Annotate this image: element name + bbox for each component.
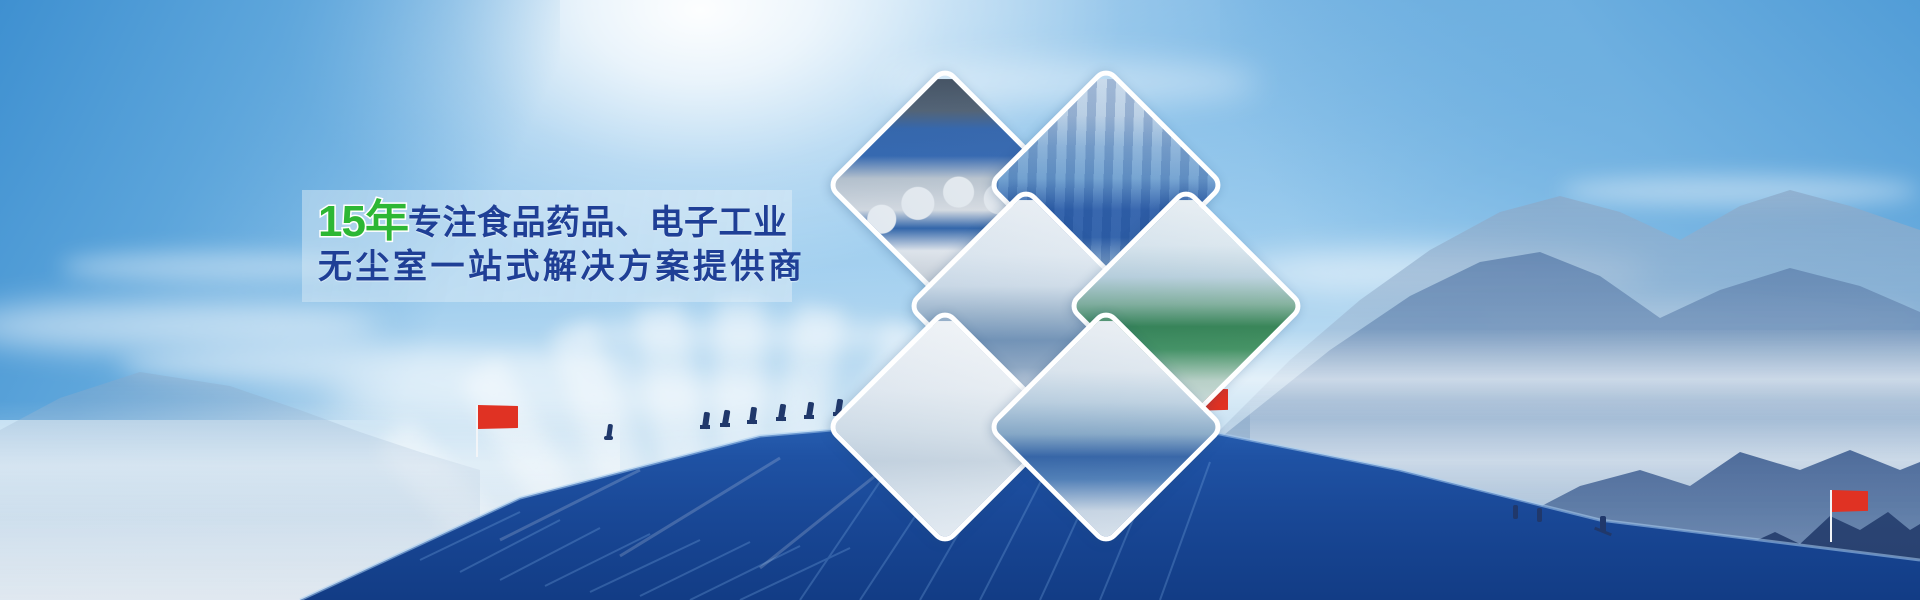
headline-line-1: 15年专注食品药品、电子工业 <box>318 200 798 246</box>
headline: 15年专注食品药品、电子工业 无尘室一站式解决方案提供商 <box>318 200 798 296</box>
red-flag <box>476 405 522 457</box>
headline-line-2: 无尘室一站式解决方案提供商 <box>318 250 798 296</box>
climber <box>776 417 786 421</box>
climber <box>804 415 814 419</box>
cleanroom-photo-diamond-grid <box>838 88 1278 468</box>
climber <box>747 420 757 424</box>
years-badge: 15年 <box>318 197 408 246</box>
headline-line-2-text: 无尘室一站式解决方案提供商 <box>318 248 806 286</box>
red-flag <box>1830 490 1874 542</box>
climber <box>1537 508 1542 522</box>
hero-banner: 15年专注食品药品、电子工业 无尘室一站式解决方案提供商 <box>0 0 1920 600</box>
climber <box>1513 505 1518 519</box>
climber <box>604 436 613 440</box>
headline-line-1-rest: 专注食品药品、电子工业 <box>408 204 788 242</box>
climber <box>720 423 730 427</box>
climber <box>700 425 710 429</box>
